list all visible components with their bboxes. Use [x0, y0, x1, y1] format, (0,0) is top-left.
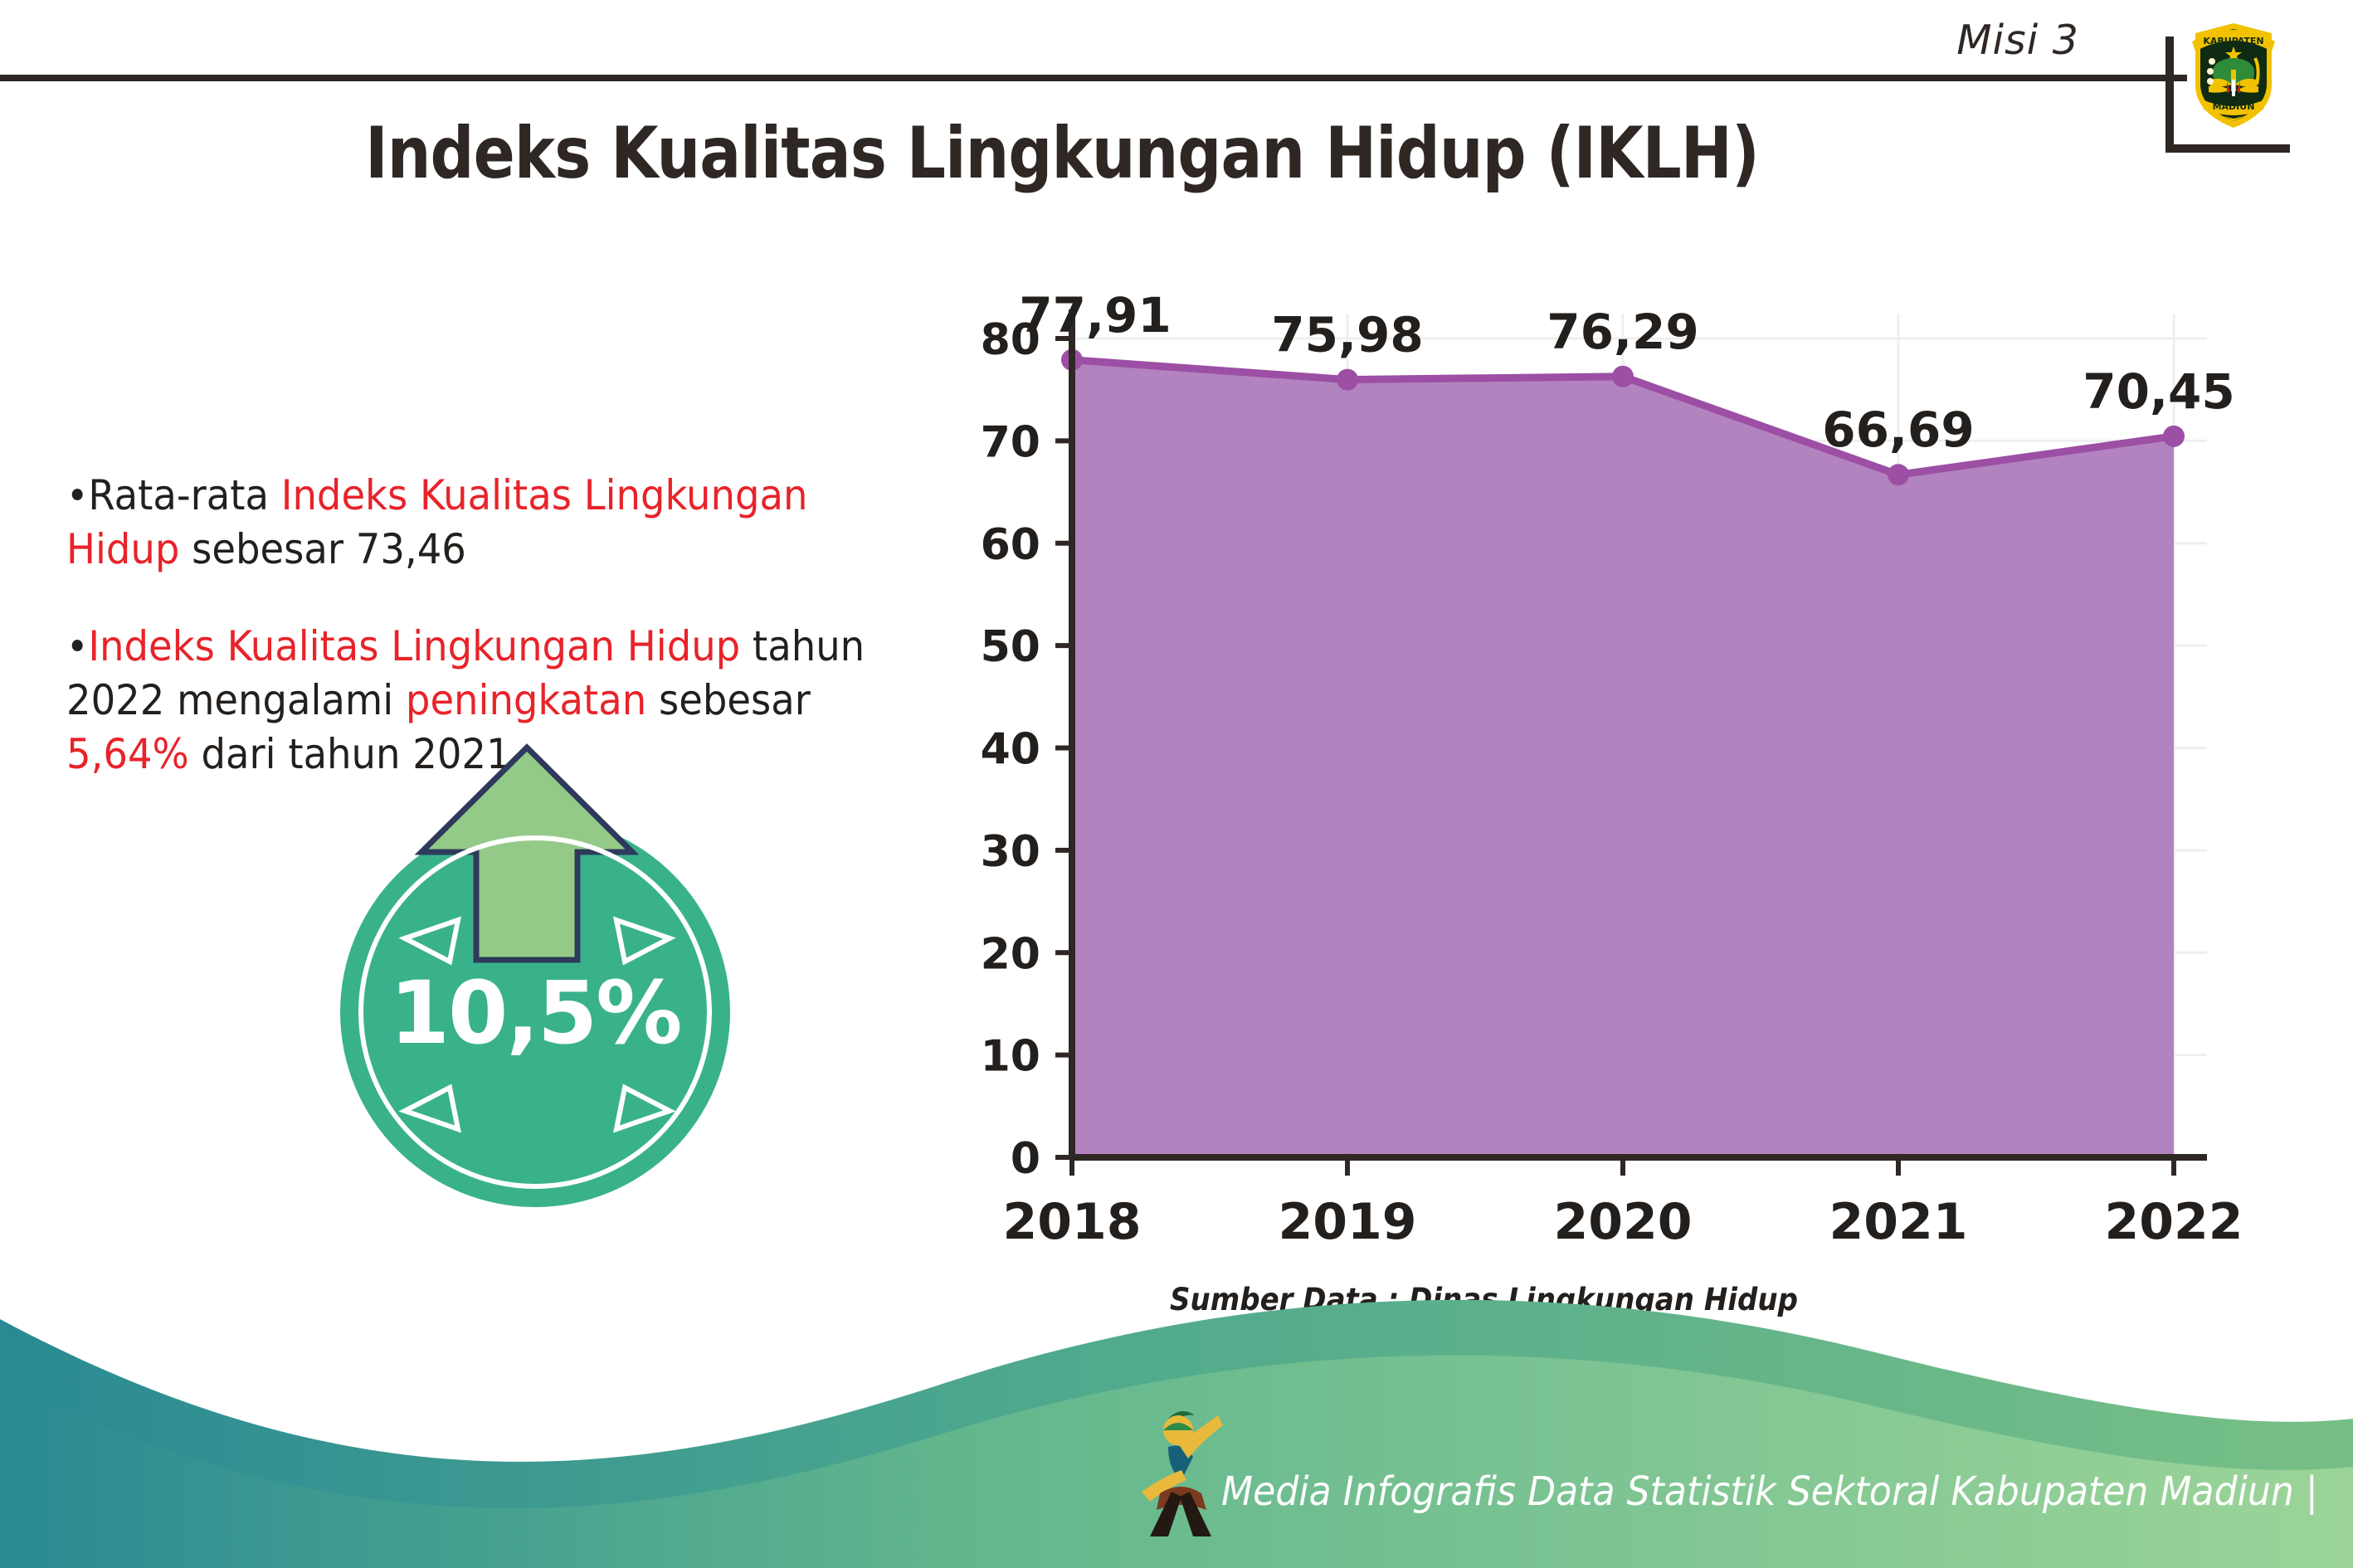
kabupaten-madiun-emblem-icon: KABUPATEN MADIUN [2180, 8, 2287, 133]
chart-value-label: 66,69 [1822, 402, 1974, 458]
y-tick-label: 10 [981, 1032, 1040, 1082]
svg-text:KABUPATEN: KABUPATEN [2203, 36, 2263, 46]
bullet-highlight-text: Indeks Kualitas Lingkungan Hidup [88, 622, 740, 670]
header-rule [0, 75, 2187, 81]
bullet-item: •Rata-rata Indeks Kualitas Lingkungan Hi… [66, 469, 884, 577]
chart-value-label: 76,29 [1547, 304, 1698, 360]
chart-area-fill [1072, 360, 2174, 1157]
x-tick-label: 2022 [2105, 1193, 2243, 1251]
badge-tick-bottom-left [398, 1074, 465, 1141]
bullet-text: sebesar 73,46 [179, 525, 465, 573]
badge-tick-bottom-right [610, 1074, 676, 1141]
chart-data-point [2163, 426, 2185, 447]
x-tick-label: 2021 [1829, 1193, 1968, 1251]
x-tick-label: 2019 [1279, 1193, 1417, 1251]
chart-x-axis [1072, 1157, 2207, 1176]
bullet-dot: • [66, 473, 88, 519]
y-tick-label: 0 [1011, 1134, 1040, 1184]
page-title: Indeks Kualitas Lingkungan Hidup (IKLH) [149, 112, 1975, 195]
y-tick-label: 60 [981, 520, 1040, 570]
svg-text:MADIUN: MADIUN [2213, 101, 2255, 112]
badge-value-label: 10,5% [340, 962, 730, 1064]
header-bracket-foot [2165, 144, 2290, 153]
chart-data-point [1337, 369, 1358, 391]
y-tick-label: 50 [981, 622, 1040, 672]
chart-value-label: 75,98 [1271, 307, 1423, 363]
y-tick-label: 20 [981, 929, 1040, 979]
header-bracket-vertical [2165, 37, 2174, 153]
y-tick-label: 30 [981, 827, 1040, 877]
x-tick-label: 2018 [1003, 1193, 1142, 1251]
bullet-dot: • [66, 624, 88, 670]
chart-y-axis [1055, 309, 1072, 1157]
increase-badge: 10,5% [324, 743, 788, 1207]
bullet-highlight-text: peningkatan [406, 676, 646, 724]
footer-caption: Media Infografis Data Statistik Sektoral… [1221, 1468, 2318, 1515]
chart-data-point [1888, 464, 1909, 485]
chart-value-label: 70,45 [2083, 363, 2234, 420]
bullet-text: sebesar [646, 676, 811, 724]
chart-value-label: 77,91 [1019, 287, 1171, 343]
bullet-text: Rata-rata [88, 471, 280, 519]
x-tick-label: 2020 [1554, 1193, 1693, 1251]
iklh-area-chart: 01020304050607080 20182019202020212022 7… [962, 282, 2257, 1261]
misi-label: Misi 3 [1956, 17, 2079, 64]
statistics-figure-logo-icon [1135, 1394, 1226, 1539]
chart-data-point [1612, 366, 1634, 387]
y-tick-label: 70 [981, 417, 1040, 467]
chart-y-tick-labels: 01020304050607080 [981, 315, 1040, 1184]
chart-x-tick-labels: 20182019202020212022 [1003, 1193, 2243, 1251]
y-tick-label: 40 [981, 725, 1040, 775]
bullet-highlight-text: 5,64% [66, 730, 189, 778]
